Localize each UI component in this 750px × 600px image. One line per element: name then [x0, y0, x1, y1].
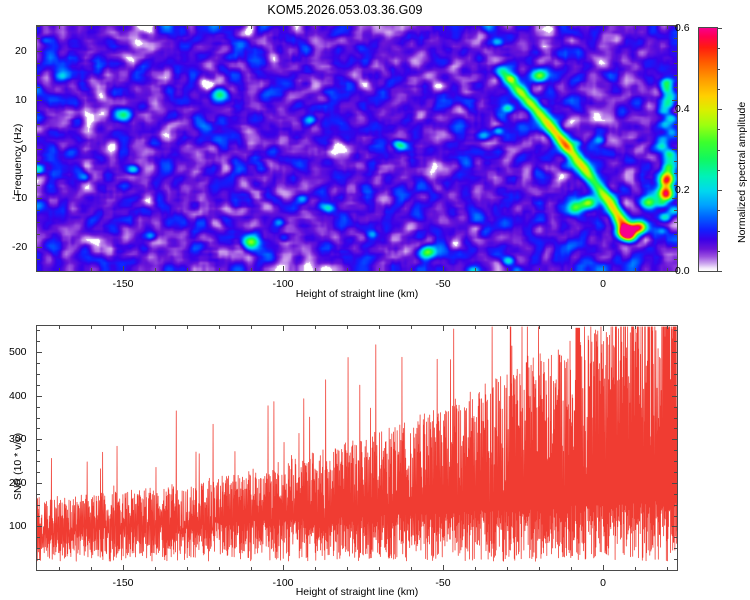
- tick-mark: [37, 63, 40, 64]
- tick-mark: [59, 268, 60, 271]
- tick-mark: [603, 326, 604, 331]
- tick-mark: [674, 418, 677, 419]
- tick-mark: [37, 161, 40, 162]
- tick-mark: [571, 268, 572, 271]
- tick-mark: [672, 100, 677, 101]
- tick-mark: [539, 26, 540, 29]
- tick-mark: [443, 565, 444, 570]
- tick-mark: [674, 494, 677, 495]
- page-title: KOM5.2026.053.03.36.G09: [0, 3, 690, 17]
- tick-mark: [37, 505, 40, 506]
- tick-mark: [37, 259, 40, 260]
- tick-mark: [411, 268, 412, 271]
- tick-mark: [667, 567, 668, 570]
- tick-mark: [674, 87, 677, 88]
- y-tick-label: 500: [9, 346, 27, 358]
- tick-mark: [539, 268, 540, 271]
- tick-mark: [674, 363, 677, 364]
- tick-mark: [539, 326, 540, 329]
- tick-mark: [37, 330, 40, 331]
- colorbar-label: Normalized spectral amplitude: [736, 102, 748, 243]
- tick-mark: [155, 326, 156, 329]
- tick-mark: [717, 48, 720, 49]
- tick-mark: [91, 567, 92, 570]
- tick-mark: [674, 505, 677, 506]
- tick-mark: [603, 266, 604, 271]
- tick-mark: [667, 268, 668, 271]
- tick-mark: [717, 150, 720, 151]
- tick-mark: [155, 268, 156, 271]
- tick-mark: [571, 26, 572, 29]
- tick-mark: [672, 396, 677, 397]
- tick-mark: [475, 26, 476, 29]
- tick-mark: [672, 149, 677, 150]
- x-tick-label: -100: [272, 278, 293, 290]
- x-tick-label: 0: [600, 278, 606, 290]
- tick-mark: [507, 326, 508, 329]
- tick-mark: [37, 124, 40, 125]
- tick-mark: [37, 396, 42, 397]
- tick-mark: [91, 326, 92, 329]
- tick-mark: [219, 268, 220, 271]
- tick-mark: [507, 26, 508, 29]
- x-tick-label: -100: [272, 577, 293, 589]
- tick-mark: [37, 185, 40, 186]
- tick-mark: [91, 26, 92, 29]
- colorbar-tick-label: 0.2: [675, 184, 690, 196]
- tick-mark: [674, 222, 677, 223]
- colorbar: [698, 27, 718, 272]
- tick-mark: [315, 326, 316, 329]
- tick-mark: [315, 26, 316, 29]
- spectrogram-panel: [36, 25, 678, 272]
- tick-mark: [571, 567, 572, 570]
- tick-mark: [219, 26, 220, 29]
- tick-mark: [717, 89, 720, 90]
- tick-mark: [283, 326, 284, 331]
- tick-mark: [315, 268, 316, 271]
- tick-mark: [283, 266, 284, 271]
- tick-mark: [674, 548, 677, 549]
- tick-mark: [123, 326, 124, 331]
- tick-mark: [91, 268, 92, 271]
- x-tick-label: -50: [435, 278, 450, 290]
- tick-mark: [674, 516, 677, 517]
- tick-mark: [674, 75, 677, 76]
- tick-mark: [37, 173, 40, 174]
- tick-mark: [674, 559, 677, 560]
- tick-mark: [315, 567, 316, 570]
- tick-mark: [283, 565, 284, 570]
- tick-mark: [37, 494, 40, 495]
- tick-mark: [717, 129, 720, 130]
- tick-mark: [37, 374, 40, 375]
- tick-mark: [219, 326, 220, 329]
- tick-mark: [674, 136, 677, 137]
- tick-mark: [37, 385, 40, 386]
- tick-mark: [37, 271, 40, 272]
- tick-mark: [674, 374, 677, 375]
- tick-mark: [672, 483, 677, 484]
- tick-mark: [37, 407, 40, 408]
- x-tick-label: -150: [112, 577, 133, 589]
- y-tick-label: -20: [12, 241, 27, 253]
- tick-mark: [672, 439, 677, 440]
- tick-mark: [571, 326, 572, 329]
- tick-mark: [672, 247, 677, 248]
- tick-mark: [37, 570, 40, 571]
- tick-mark: [507, 567, 508, 570]
- tick-mark: [37, 51, 42, 52]
- tick-mark: [59, 567, 60, 570]
- tick-mark: [37, 210, 40, 211]
- y-tick-label: 20: [15, 45, 27, 57]
- tick-mark: [251, 567, 252, 570]
- tick-mark: [674, 173, 677, 174]
- snr-panel: [36, 325, 678, 571]
- tick-mark: [347, 326, 348, 329]
- tick-mark: [37, 526, 42, 527]
- tick-mark: [251, 268, 252, 271]
- tick-mark: [674, 234, 677, 235]
- tick-mark: [37, 559, 40, 560]
- tick-mark: [674, 124, 677, 125]
- tick-mark: [674, 210, 677, 211]
- y-tick-label: 10: [15, 94, 27, 106]
- tick-mark: [37, 418, 40, 419]
- tick-mark: [379, 326, 380, 329]
- tick-mark: [187, 26, 188, 29]
- tick-mark: [37, 234, 40, 235]
- tick-mark: [667, 26, 668, 29]
- tick-mark: [37, 149, 42, 150]
- tick-mark: [37, 450, 40, 451]
- tick-mark: [443, 266, 444, 271]
- tick-mark: [411, 26, 412, 29]
- tick-mark: [187, 567, 188, 570]
- snr-trace: [37, 326, 677, 570]
- y-tick-label: 400: [9, 390, 27, 402]
- x-tick-label: -50: [435, 577, 450, 589]
- tick-mark: [347, 268, 348, 271]
- tick-mark: [674, 38, 677, 39]
- tick-mark: [717, 69, 720, 70]
- tick-mark: [251, 26, 252, 29]
- tick-mark: [672, 198, 677, 199]
- tick-mark: [37, 247, 42, 248]
- spectrogram-image: [37, 26, 677, 271]
- snr-xlabel: Height of straight line (km): [296, 586, 419, 598]
- tick-mark: [37, 537, 40, 538]
- spectrogram-ylabel: Frequency (Hz): [12, 124, 24, 196]
- tick-mark: [717, 251, 720, 252]
- tick-mark: [507, 268, 508, 271]
- tick-mark: [672, 51, 677, 52]
- tick-mark: [674, 63, 677, 64]
- y-tick-label: 100: [9, 520, 27, 532]
- tick-mark: [717, 210, 720, 211]
- tick-mark: [717, 231, 720, 232]
- tick-mark: [674, 537, 677, 538]
- tick-mark: [674, 330, 677, 331]
- tick-mark: [667, 326, 668, 329]
- snr-ylabel: SNR (10 * v/v): [12, 433, 24, 500]
- tick-mark: [674, 472, 677, 473]
- tick-mark: [37, 439, 42, 440]
- tick-mark: [37, 352, 42, 353]
- tick-mark: [219, 567, 220, 570]
- tick-mark: [37, 87, 40, 88]
- tick-mark: [411, 326, 412, 329]
- tick-mark: [717, 190, 722, 191]
- figure-root: KOM5.2026.053.03.36.G09 -150-100-500-20-…: [0, 0, 750, 600]
- tick-mark: [37, 38, 40, 39]
- tick-mark: [187, 268, 188, 271]
- tick-mark: [475, 567, 476, 570]
- tick-mark: [123, 26, 124, 31]
- tick-mark: [37, 516, 40, 517]
- tick-mark: [37, 461, 40, 462]
- tick-mark: [674, 428, 677, 429]
- tick-mark: [37, 136, 40, 137]
- tick-mark: [123, 565, 124, 570]
- tick-mark: [59, 326, 60, 329]
- tick-mark: [379, 268, 380, 271]
- tick-mark: [37, 100, 42, 101]
- tick-mark: [379, 26, 380, 29]
- tick-mark: [603, 26, 604, 31]
- tick-mark: [411, 567, 412, 570]
- x-tick-label: -150: [112, 278, 133, 290]
- colorbar-tick-label: 0.4: [675, 103, 690, 115]
- tick-mark: [155, 26, 156, 29]
- tick-mark: [37, 363, 40, 364]
- tick-mark: [59, 26, 60, 29]
- colorbar-tick-label: 0.6: [675, 22, 690, 34]
- tick-mark: [155, 567, 156, 570]
- tick-mark: [674, 407, 677, 408]
- tick-mark: [674, 570, 677, 571]
- tick-mark: [674, 461, 677, 462]
- tick-mark: [635, 268, 636, 271]
- x-tick-label: 0: [600, 577, 606, 589]
- tick-mark: [187, 326, 188, 329]
- tick-mark: [717, 170, 720, 171]
- tick-mark: [717, 271, 722, 272]
- tick-mark: [37, 198, 42, 199]
- tick-mark: [674, 259, 677, 260]
- colorbar-tick-label: 0.0: [675, 265, 690, 277]
- tick-mark: [475, 268, 476, 271]
- tick-mark: [37, 112, 40, 113]
- tick-mark: [672, 526, 677, 527]
- tick-mark: [379, 567, 380, 570]
- tick-mark: [37, 483, 42, 484]
- tick-mark: [443, 26, 444, 31]
- tick-mark: [347, 567, 348, 570]
- tick-mark: [674, 450, 677, 451]
- tick-mark: [475, 326, 476, 329]
- tick-mark: [37, 222, 40, 223]
- tick-mark: [37, 548, 40, 549]
- tick-mark: [717, 109, 720, 110]
- tick-mark: [674, 385, 677, 386]
- tick-mark: [443, 326, 444, 331]
- tick-mark: [37, 26, 40, 27]
- tick-mark: [37, 428, 40, 429]
- tick-mark: [283, 26, 284, 31]
- tick-mark: [635, 326, 636, 329]
- tick-mark: [674, 341, 677, 342]
- tick-mark: [674, 161, 677, 162]
- tick-mark: [37, 472, 40, 473]
- tick-mark: [603, 565, 604, 570]
- tick-mark: [123, 266, 124, 271]
- spectrogram-xlabel: Height of straight line (km): [296, 288, 419, 300]
- tick-mark: [539, 567, 540, 570]
- tick-mark: [635, 26, 636, 29]
- tick-mark: [347, 26, 348, 29]
- tick-mark: [635, 567, 636, 570]
- tick-mark: [672, 352, 677, 353]
- tick-mark: [717, 28, 722, 29]
- tick-mark: [37, 75, 40, 76]
- tick-mark: [37, 341, 40, 342]
- tick-mark: [251, 326, 252, 329]
